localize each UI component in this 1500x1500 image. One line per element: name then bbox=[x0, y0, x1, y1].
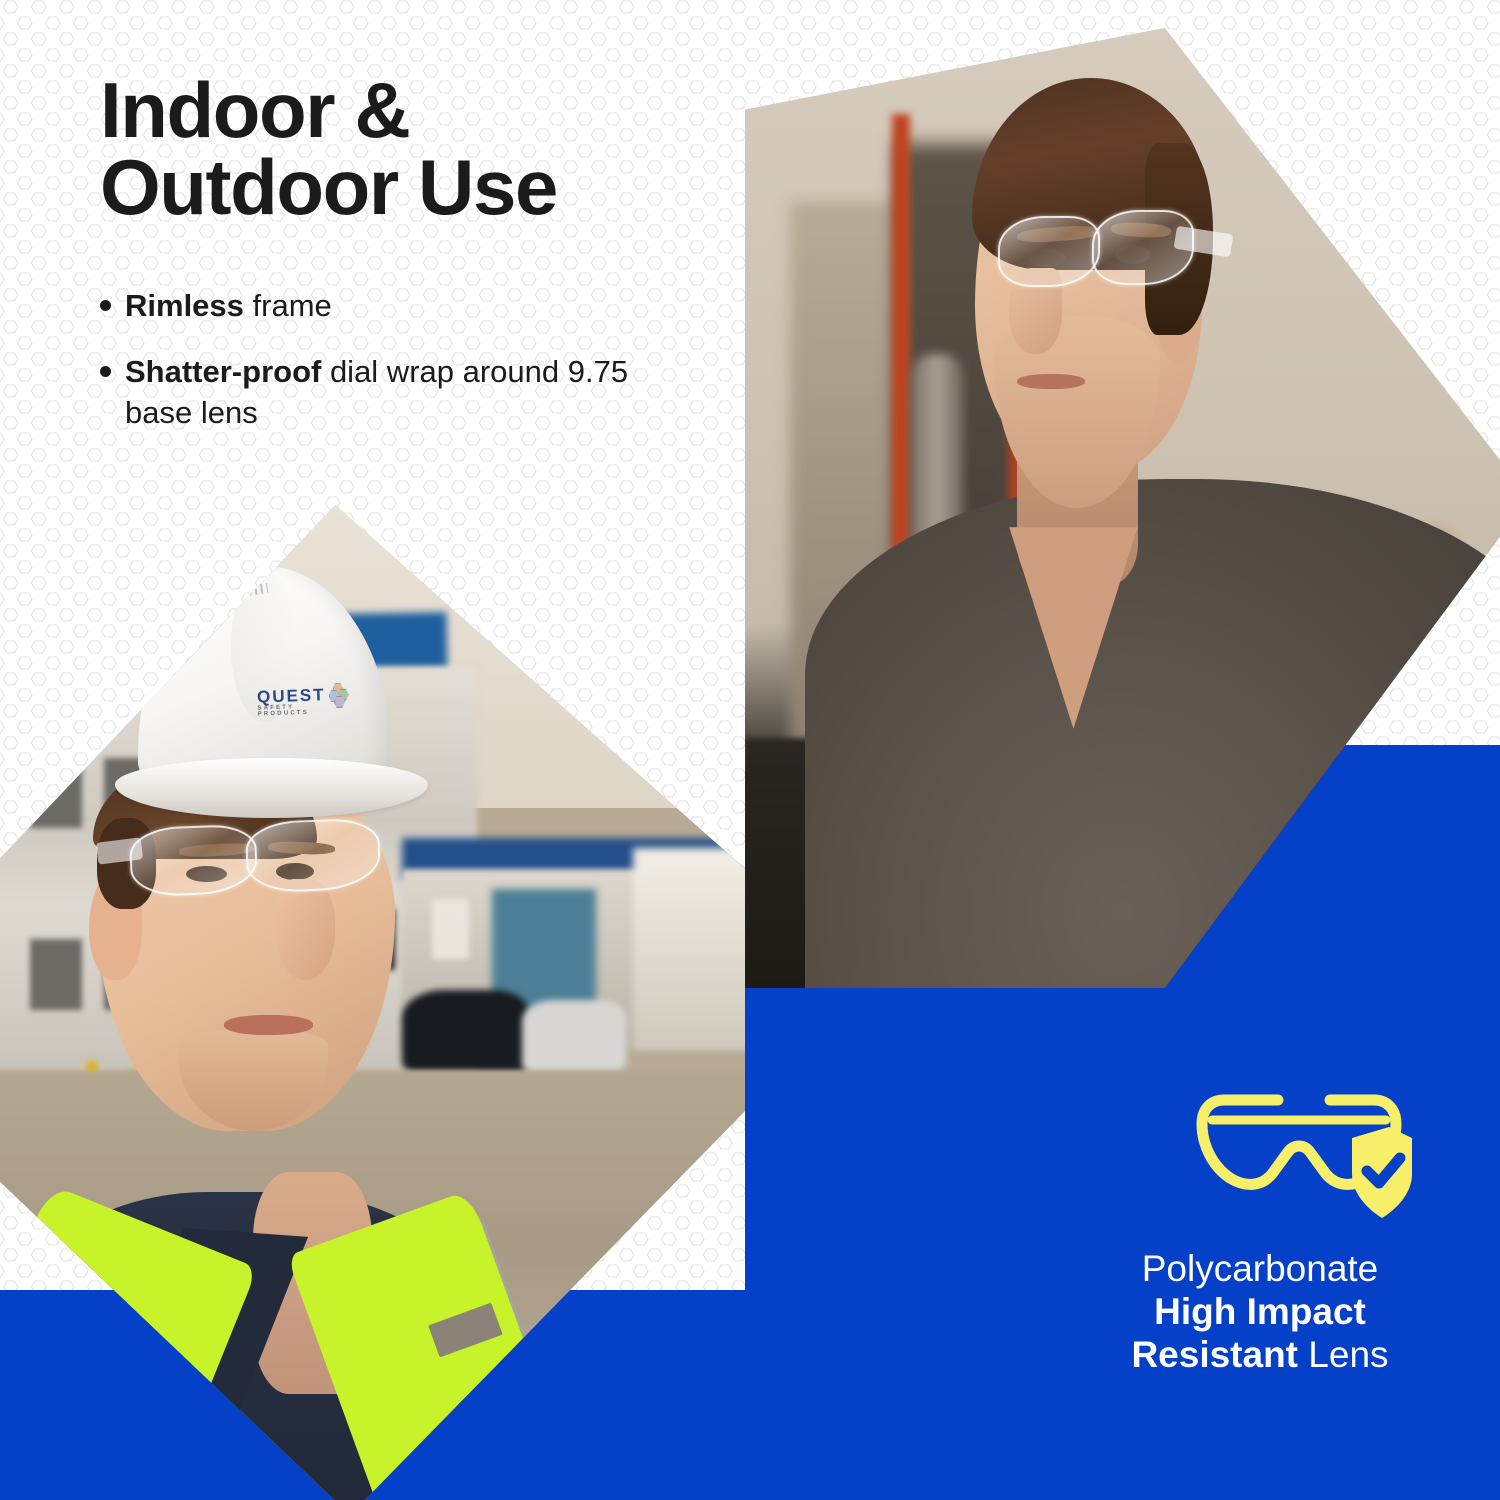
caption-line-3-bold: Resistant bbox=[1131, 1334, 1298, 1375]
bullet-bold-term: Rimless bbox=[125, 288, 244, 323]
safety-glasses-lens-left bbox=[998, 216, 1100, 287]
worker-mouth bbox=[224, 1015, 313, 1035]
bullet-dot-icon bbox=[100, 366, 111, 377]
caption-line-3-rest: Lens bbox=[1298, 1334, 1389, 1375]
bullet-text: Rimless frame bbox=[125, 286, 660, 326]
wall-sign bbox=[432, 899, 469, 960]
bullet-rest-text: frame bbox=[244, 288, 332, 323]
bullet-text: Shatter-proof dial wrap around 9.75 base… bbox=[125, 352, 660, 433]
parked-car-dark bbox=[402, 990, 529, 1071]
list-item: Shatter-proof dial wrap around 9.75 base… bbox=[100, 352, 660, 433]
caption-line-1: Polycarbonate bbox=[1050, 1248, 1470, 1291]
logo-hexagon-icon bbox=[328, 682, 347, 705]
list-item: Rimless frame bbox=[100, 286, 660, 326]
model-mouth bbox=[1017, 374, 1085, 389]
quest-safety-products-logo: QUEST SAFETY PRODUCTS bbox=[256, 666, 407, 722]
product-feature-infographic: QUEST SAFETY PRODUCTS Indoor & Outdoor U… bbox=[0, 0, 1500, 1500]
logo-wordmark: QUEST bbox=[257, 686, 326, 705]
feature-caption: Polycarbonate High Impact Resistant Lens bbox=[1050, 1248, 1470, 1377]
bullet-dot-icon bbox=[100, 300, 111, 311]
worker-nose bbox=[276, 879, 336, 980]
headline-line-2: Outdoor Use bbox=[100, 149, 720, 226]
safety-goggles-shield-check-icon bbox=[1190, 1078, 1418, 1226]
parked-car-light bbox=[522, 1000, 626, 1071]
warehouse-window bbox=[30, 939, 82, 1010]
bullet-bold-term: Shatter-proof bbox=[125, 354, 321, 389]
page-title: Indoor & Outdoor Use bbox=[100, 72, 720, 226]
headline-line-1: Indoor & bbox=[100, 72, 720, 149]
caption-line-2: High Impact bbox=[1154, 1291, 1366, 1332]
semi-truck-trailer bbox=[633, 848, 745, 1050]
logo-tagline: SAFETY PRODUCTS bbox=[257, 703, 326, 717]
feature-bullet-list: Rimless frame Shatter-proof dial wrap ar… bbox=[100, 286, 660, 459]
